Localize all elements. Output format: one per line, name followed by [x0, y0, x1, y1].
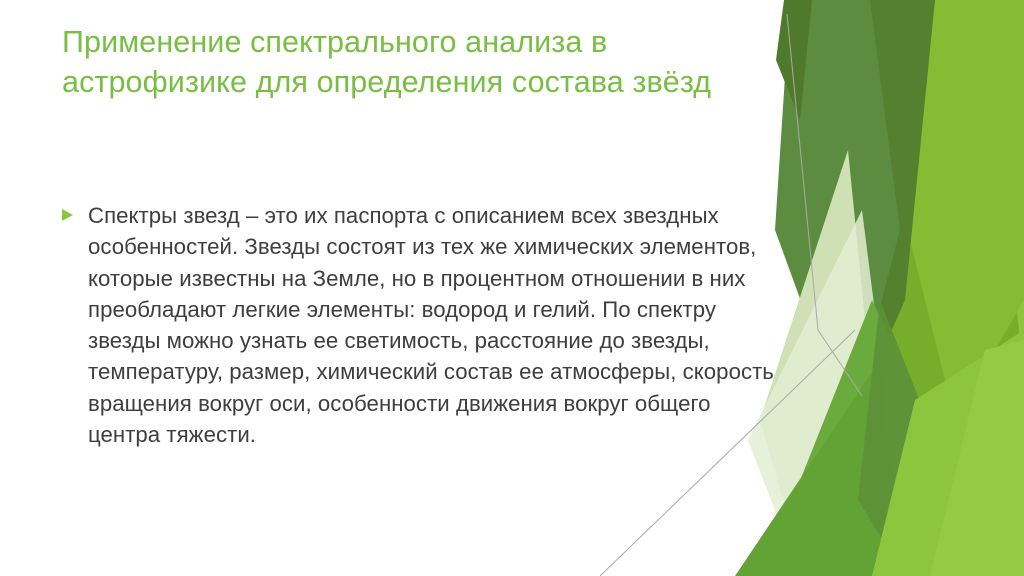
body-line: которые известны на Земле, но в процентн…	[88, 263, 902, 294]
body-line: звезды можно узнать ее светимость, расст…	[88, 325, 902, 356]
slide-title-line-2: астрофизике для определения состава звёз…	[62, 62, 792, 102]
body-line: Спектры звезд – это их паспорта с описан…	[88, 200, 902, 231]
body-line: вращения вокруг оси, особенности движени…	[88, 388, 902, 419]
body-line: температуру, размер, химический состав е…	[88, 356, 902, 387]
slide-title: Применение спектрального анализа в астро…	[62, 22, 792, 102]
slide-body: Спектры звезд – это их паспорта с описан…	[62, 200, 902, 450]
body-line: преобладают легкие элементы: водород и г…	[88, 294, 902, 325]
body-paragraph: Спектры звезд – это их паспорта с описан…	[88, 200, 902, 450]
body-line: центра тяжести.	[88, 419, 902, 450]
facet-shape-lime-far-right	[905, 0, 1024, 576]
triangle-right-bullet-glyph	[62, 209, 73, 221]
slide-title-line-1: Применение спектрального анализа в	[62, 22, 792, 62]
triangle-right-bullet-icon	[62, 209, 76, 221]
presentation-slide: Применение спектрального анализа в астро…	[0, 0, 1024, 576]
body-line: особенностей. Звезды состоят из тех же х…	[88, 231, 902, 262]
facet-shape-lime-overlay	[900, 0, 1024, 420]
facet-shape-brightest-lime-bottom	[930, 340, 1024, 576]
